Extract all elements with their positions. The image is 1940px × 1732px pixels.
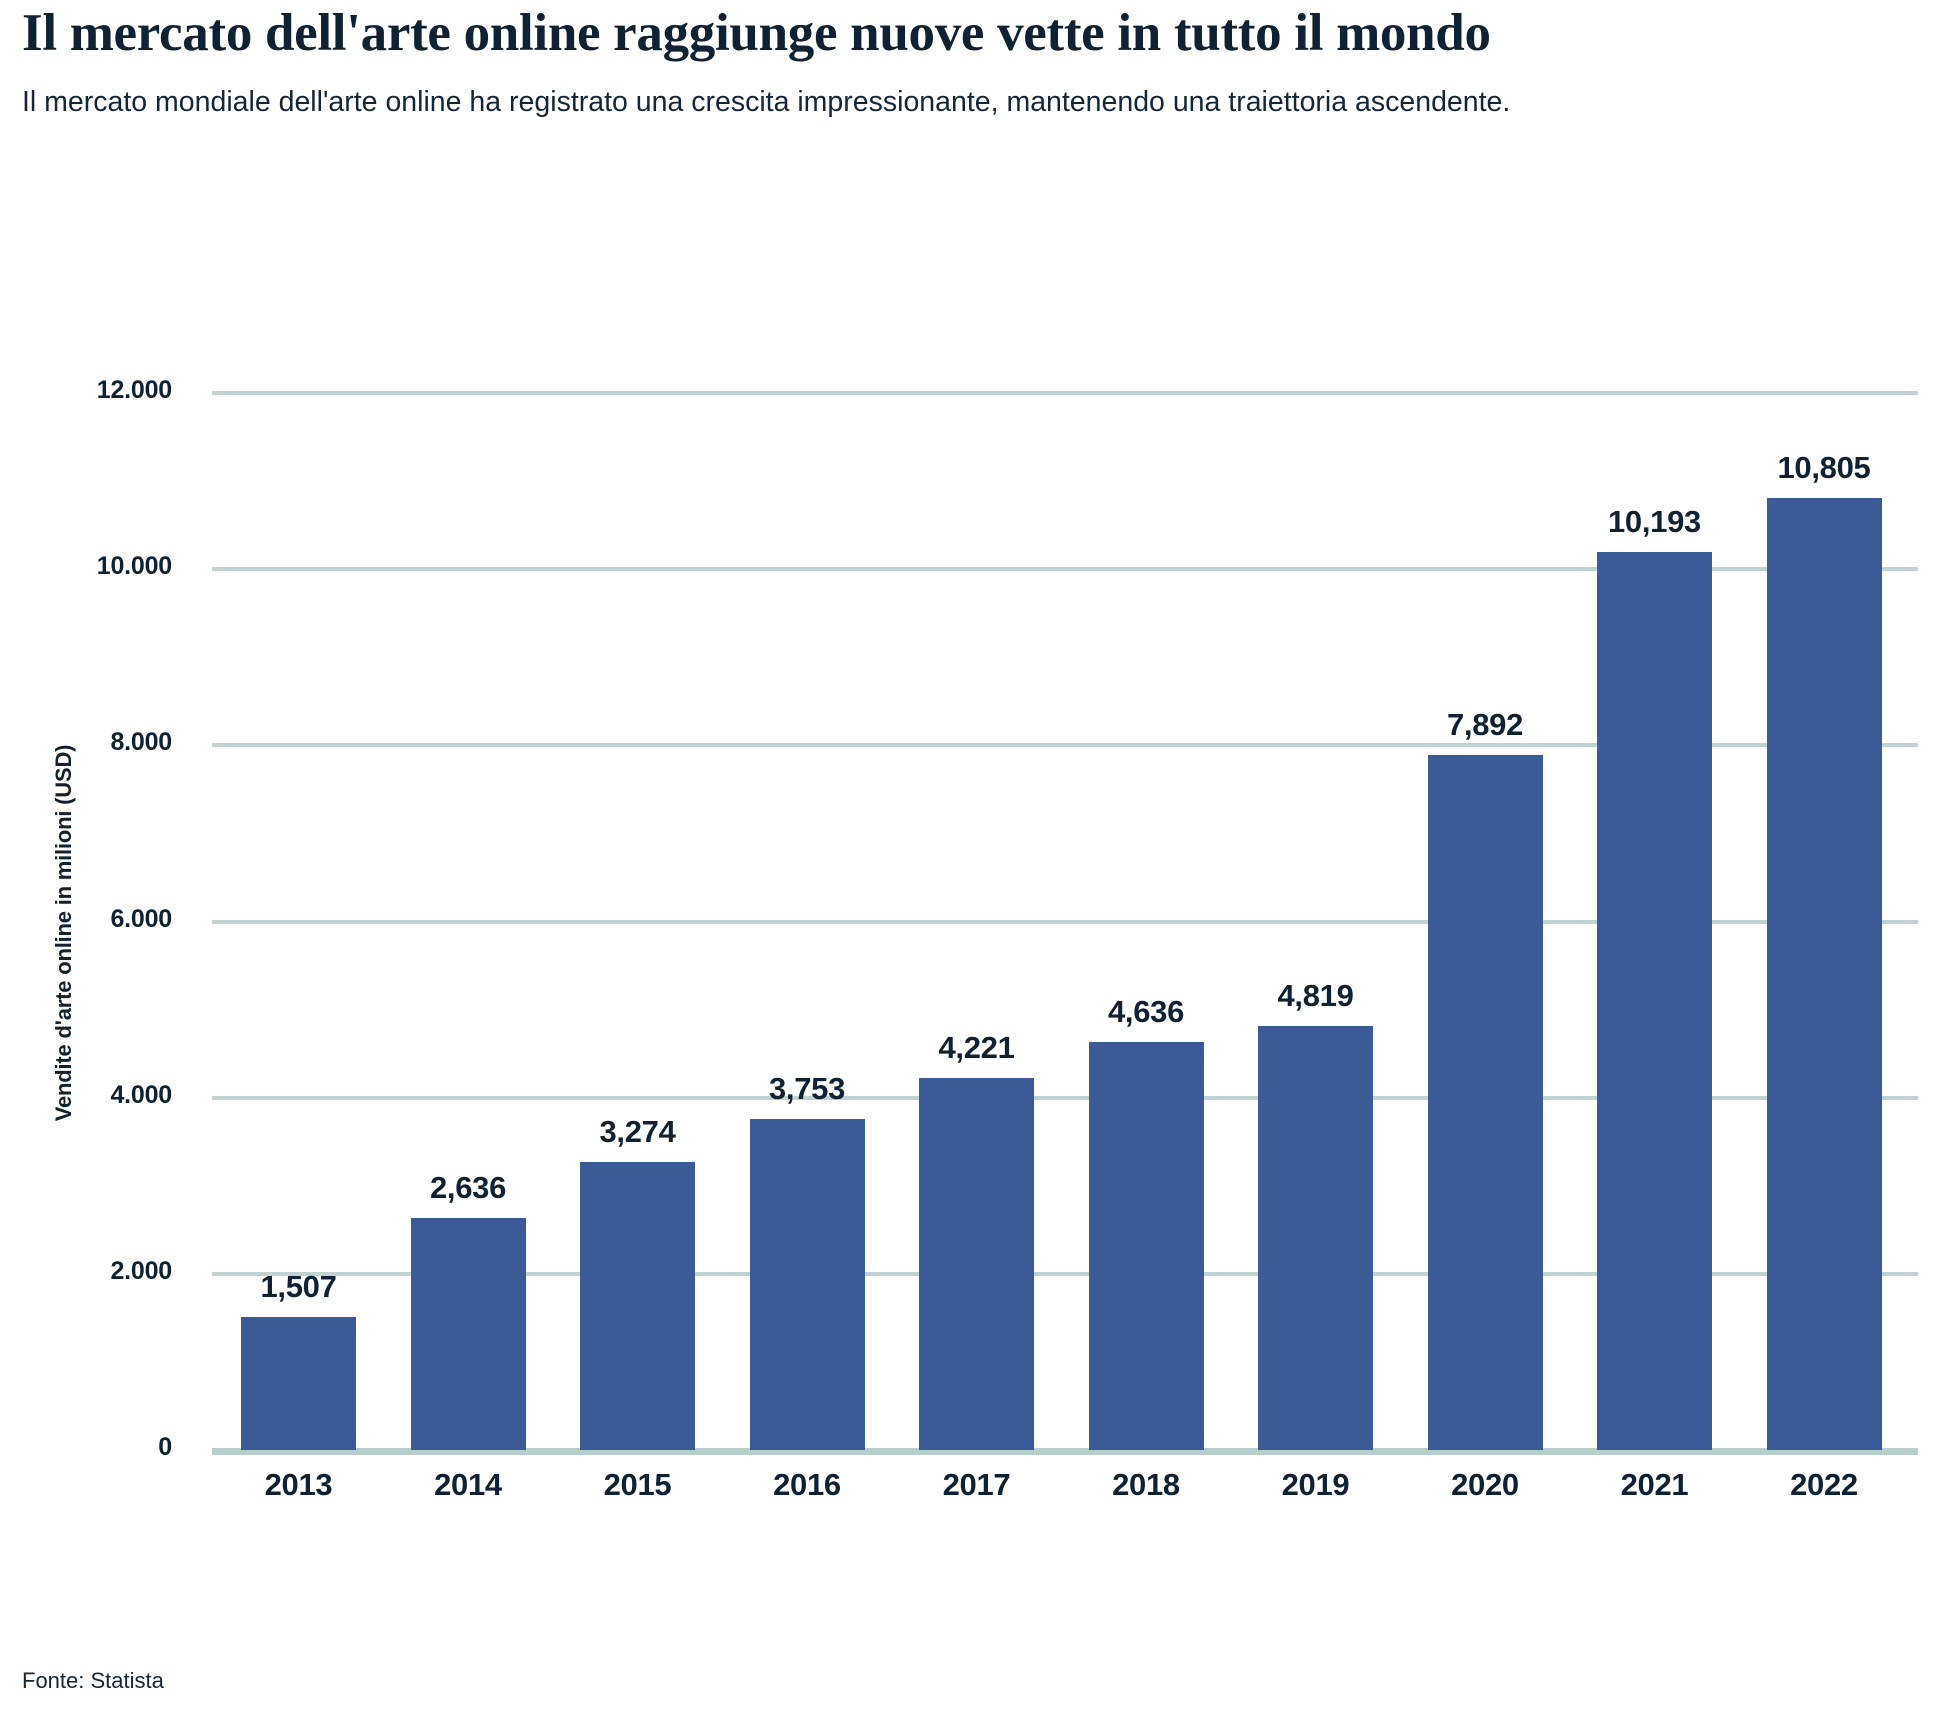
bar-2022[interactable] bbox=[1767, 498, 1882, 1450]
y-axis-tick-label: 8.000 bbox=[0, 728, 172, 757]
bar-2020[interactable] bbox=[1428, 755, 1543, 1450]
bar-value-label-2021: 10,193 bbox=[1545, 504, 1765, 540]
y-axis-tick-label: 4.000 bbox=[0, 1081, 172, 1110]
bar-2015[interactable] bbox=[580, 1162, 695, 1450]
x-axis-tick-label-2022: 2022 bbox=[1724, 1467, 1924, 1503]
gridline bbox=[212, 391, 1918, 395]
y-axis-tick-label: 0 bbox=[0, 1433, 172, 1462]
bar-2013[interactable] bbox=[241, 1317, 356, 1450]
source-note: Fonte: Statista bbox=[22, 1668, 164, 1694]
bar-2021[interactable] bbox=[1597, 552, 1712, 1450]
y-axis-tick-label: 6.000 bbox=[0, 905, 172, 934]
y-axis-tick-label: 2.000 bbox=[0, 1257, 172, 1286]
bar-2016[interactable] bbox=[750, 1119, 865, 1450]
bar-value-label-2015: 3,274 bbox=[528, 1114, 748, 1150]
bar-value-label-2019: 4,819 bbox=[1206, 978, 1426, 1014]
bar-2018[interactable] bbox=[1089, 1042, 1204, 1450]
y-axis-tick-label: 10.000 bbox=[0, 552, 172, 581]
bar-2017[interactable] bbox=[919, 1078, 1034, 1450]
bar-2014[interactable] bbox=[411, 1218, 526, 1450]
y-axis-tick-label: 12.000 bbox=[0, 376, 172, 405]
bar-value-label-2013: 1,507 bbox=[189, 1269, 409, 1305]
bar-value-label-2016: 3,753 bbox=[697, 1071, 917, 1107]
bar-value-label-2020: 7,892 bbox=[1375, 707, 1595, 743]
bar-value-label-2017: 4,221 bbox=[867, 1030, 1087, 1066]
bar-value-label-2014: 2,636 bbox=[358, 1170, 578, 1206]
bar-2019[interactable] bbox=[1258, 1026, 1373, 1450]
bar-value-label-2022: 10,805 bbox=[1714, 450, 1934, 486]
bar-chart: Vendite d'arte online in milioni (USD) 0… bbox=[0, 0, 1940, 1732]
